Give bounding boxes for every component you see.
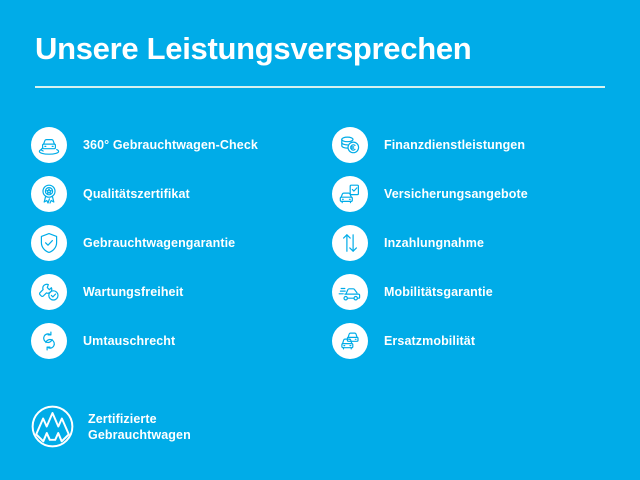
promise-poster: Unsere Leistungsversprechen 360° Gebrauc… [0, 0, 640, 480]
feature-item-maintenance-free[interactable]: Wartungsfreiheit [31, 267, 321, 316]
shield-check-icon [31, 225, 67, 261]
brand-text-line2: Gebrauchtwagen [88, 427, 191, 443]
coins-euro-icon [332, 127, 368, 163]
feature-item-insurance-offers[interactable]: Versicherungsangebote [332, 169, 622, 218]
award-rosette-icon [31, 176, 67, 212]
feature-label: Qualitätszertifikat [83, 187, 190, 201]
feature-item-warranty[interactable]: Gebrauchtwagengarantie [31, 218, 321, 267]
feature-item-replacement-mobility[interactable]: Ersatzmobilität [332, 316, 622, 365]
brand-text-line1: Zertifizierte [88, 411, 191, 427]
feature-item-quality-certificate[interactable]: Qualitätszertifikat [31, 169, 321, 218]
feature-label: Ersatzmobilität [384, 334, 475, 348]
feature-item-mobility-guarantee[interactable]: Mobilitätsgarantie [332, 267, 622, 316]
feature-item-360-check[interactable]: 360° Gebrauchtwagen-Check [31, 120, 321, 169]
car-clipboard-icon [332, 176, 368, 212]
volkswagen-logo [30, 404, 75, 449]
feature-label: Inzahlungnahme [384, 236, 484, 250]
feature-item-trade-in[interactable]: Inzahlungnahme [332, 218, 622, 267]
exchange-arrows-icon [31, 323, 67, 359]
up-down-arrows-icon [332, 225, 368, 261]
feature-column-left: 360° Gebrauchtwagen-Check Qualitätszerti… [31, 120, 321, 365]
feature-column-right: Finanzdienstleistungen Versicherungsange… [332, 120, 622, 365]
page-title: Unsere Leistungsversprechen [35, 31, 471, 67]
brand-footer: Zertifizierte Gebrauchtwagen [30, 404, 191, 449]
wrench-check-icon [31, 274, 67, 310]
car-360-check-icon [31, 127, 67, 163]
feature-label: Gebrauchtwagengarantie [83, 236, 235, 250]
feature-label: 360° Gebrauchtwagen-Check [83, 138, 258, 152]
title-divider [35, 86, 605, 88]
brand-text: Zertifizierte Gebrauchtwagen [88, 411, 191, 443]
feature-item-financial-services[interactable]: Finanzdienstleistungen [332, 120, 622, 169]
feature-columns: 360° Gebrauchtwagen-Check Qualitätszerti… [0, 120, 640, 365]
feature-item-exchange-right[interactable]: Umtauschrecht [31, 316, 321, 365]
feature-label: Finanzdienstleistungen [384, 138, 525, 152]
feature-label: Wartungsfreiheit [83, 285, 183, 299]
feature-label: Mobilitätsgarantie [384, 285, 493, 299]
two-cars-icon [332, 323, 368, 359]
feature-label: Versicherungsangebote [384, 187, 528, 201]
car-speed-icon [332, 274, 368, 310]
feature-label: Umtauschrecht [83, 334, 175, 348]
